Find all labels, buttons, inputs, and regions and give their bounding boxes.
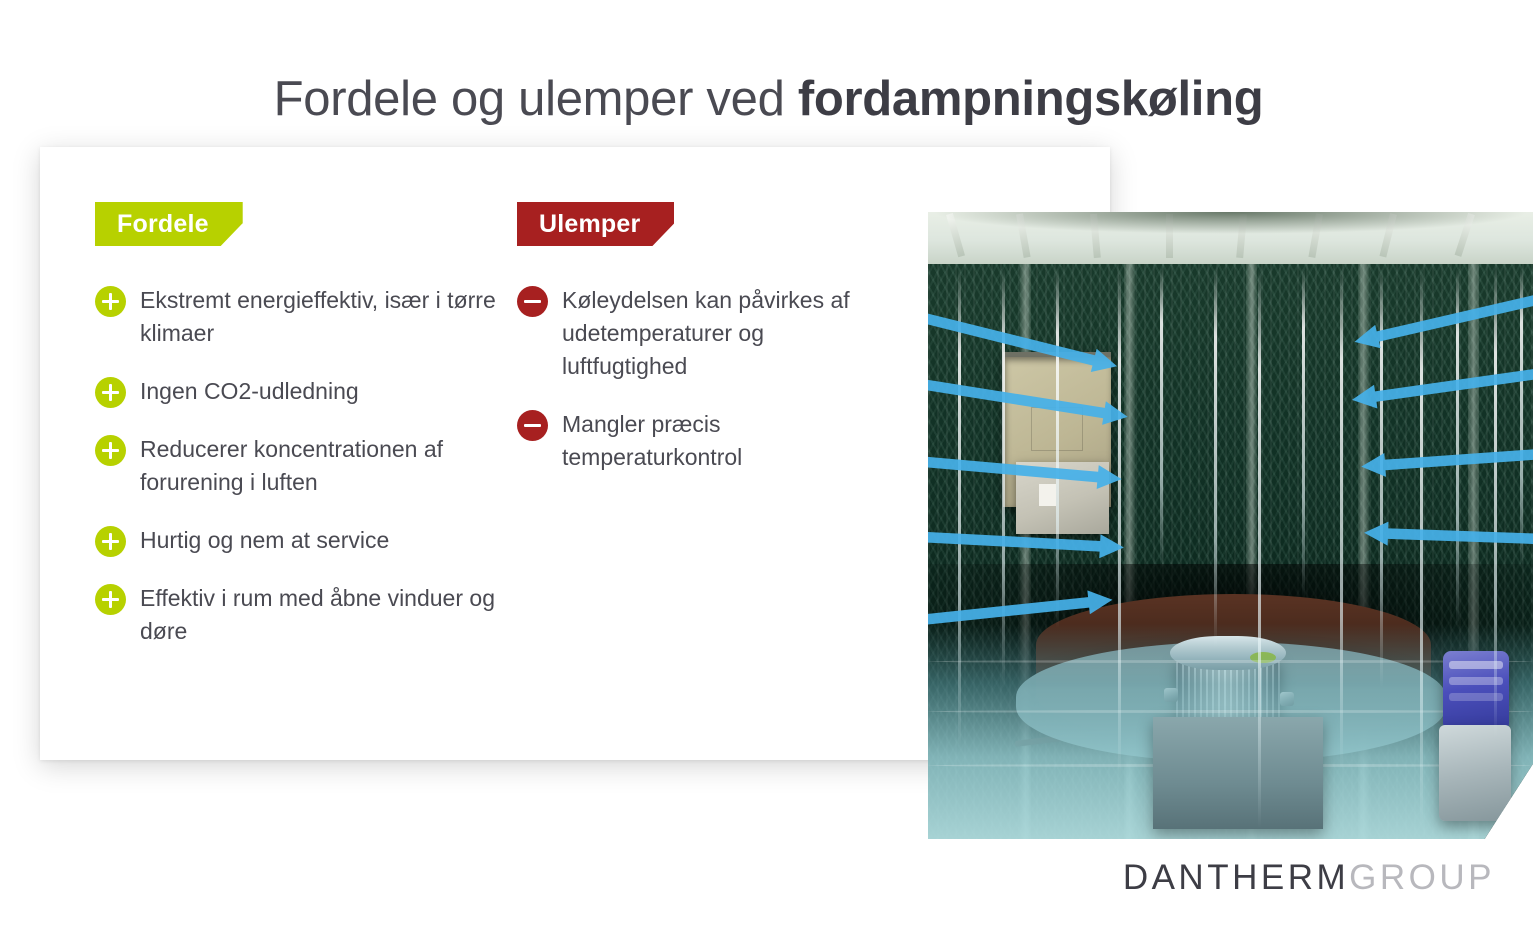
water-stream (1340, 268, 1343, 768)
minus-icon (517, 410, 548, 441)
page-title-emphasis: fordampningskøling (798, 72, 1264, 126)
pros-column: Fordele Ekstremt energieffektiv, især i … (95, 202, 515, 673)
water-stream (958, 268, 961, 748)
list-item: Effektiv i rum med åbne vinduer og døre (95, 582, 515, 648)
list-item: Køleydelsen kan påvirkes af udetemperatu… (517, 284, 887, 383)
list-item-label: Ekstremt energieffektiv, især i tørre kl… (140, 284, 515, 350)
logo-secondary: GROUP (1349, 858, 1495, 897)
list-item-label: Hurtig og nem at service (140, 524, 389, 557)
plus-icon (95, 584, 126, 615)
photo-inner (928, 212, 1533, 839)
water-stream (1258, 268, 1261, 828)
plus-icon (95, 526, 126, 557)
list-item-label: Reducerer koncentrationen af forurening … (140, 433, 515, 499)
list-item: Ekstremt energieffektiv, især i tørre kl… (95, 284, 515, 350)
cons-header-ribbon: Ulemper (517, 202, 674, 246)
page-title: Fordele og ulemper ved fordampningskølin… (0, 69, 1537, 129)
plus-icon (95, 435, 126, 466)
water-stream (1160, 268, 1163, 568)
photo-ceiling (928, 212, 1533, 264)
list-item-label: Mangler præcis temperaturkontrol (562, 408, 887, 474)
water-stream (1494, 268, 1497, 738)
cons-list: Køleydelsen kan påvirkes af udetemperatu… (517, 284, 887, 474)
list-item: Reducerer koncentrationen af forurening … (95, 433, 515, 499)
pros-header-ribbon: Fordele (95, 202, 243, 246)
list-item-label: Effektiv i rum med åbne vinduer og døre (140, 582, 515, 648)
list-item-label: Køleydelsen kan påvirkes af udetemperatu… (562, 284, 887, 383)
plus-icon (95, 286, 126, 317)
list-item: Mangler præcis temperaturkontrol (517, 408, 887, 474)
list-item-label: Ingen CO2-udledning (140, 375, 359, 408)
water-stream (1002, 268, 1005, 688)
cons-column: Ulemper Køleydelsen kan påvirkes af udet… (517, 202, 887, 499)
pros-list: Ekstremt energieffektiv, især i tørre kl… (95, 284, 515, 648)
water-stream (1214, 268, 1217, 648)
evaporative-cooler-photo (928, 212, 1533, 839)
plus-icon (95, 377, 126, 408)
list-item: Hurtig og nem at service (95, 524, 515, 557)
ceiling-shade (928, 212, 1533, 238)
water-stream (1520, 268, 1523, 568)
pedestal (1153, 717, 1323, 829)
dantherm-group-logo: DANTHERMGROUP (1123, 858, 1495, 898)
water-stream (1118, 268, 1121, 778)
blue-pump (1443, 651, 1509, 731)
water-stream (1420, 268, 1423, 828)
water-stream (1056, 268, 1059, 628)
grey-pump (1439, 725, 1511, 821)
list-item: Ingen CO2-udledning (95, 375, 515, 408)
minus-icon (517, 286, 548, 317)
logo-primary: DANTHERM (1123, 858, 1349, 897)
page-title-regular: Fordele og ulemper ved (274, 72, 798, 126)
water-stream (1302, 268, 1305, 598)
